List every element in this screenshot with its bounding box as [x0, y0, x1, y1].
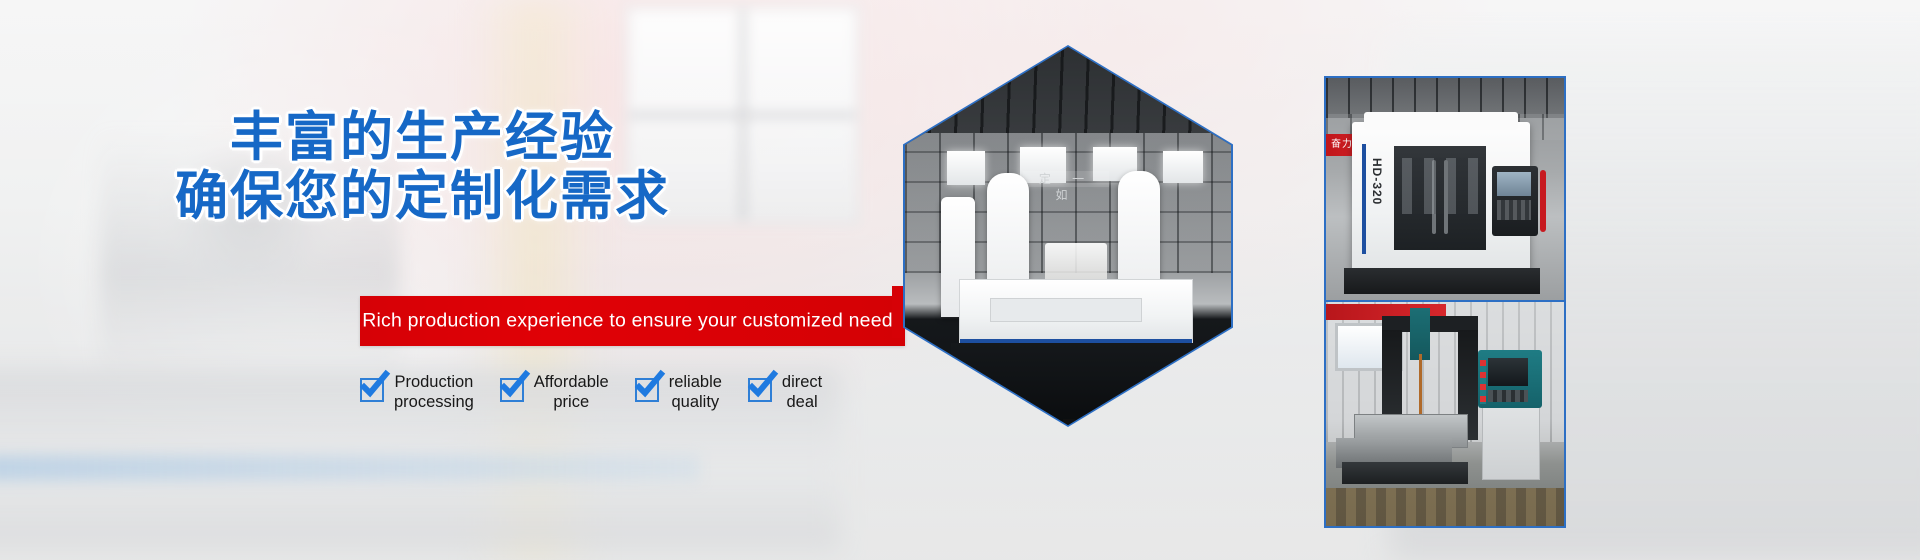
feature-label: reliable quality: [669, 372, 722, 412]
thumbnail-edm-machine[interactable]: [1324, 300, 1566, 528]
hero-image-hexagon[interactable]: 定 一 如: [903, 45, 1233, 427]
console-screen: [1488, 358, 1528, 386]
machine-hood: [1364, 112, 1518, 130]
red-guard-rail: [1540, 170, 1546, 232]
thumbnail-2-scene: [1326, 302, 1564, 526]
machining-center-body: JINCAI HD-320: [1352, 122, 1530, 272]
machine-foot: [991, 419, 1003, 425]
machine-bed: [1342, 462, 1468, 484]
machine-plinth: [1344, 268, 1540, 294]
headline-line-1: 丰富的生产经验: [0, 108, 845, 167]
subtitle-text: Rich production experience to ensure you…: [360, 310, 905, 333]
control-keypad: [1497, 200, 1531, 220]
hexagon-photo: 定 一 如: [905, 47, 1231, 425]
feature-item-reliable-quality[interactable]: reliable quality: [635, 372, 722, 412]
thumbnail-machining-center[interactable]: 奋力 JINCAI HD-320: [1324, 76, 1566, 304]
checkbox-checked-icon[interactable]: [635, 378, 659, 402]
feature-list: Production processing Affordable price r…: [360, 372, 890, 424]
workshop-roof: [905, 47, 1231, 139]
workshop-window: [1163, 151, 1203, 183]
feature-item-production-processing[interactable]: Production processing: [360, 372, 474, 412]
feature-label: direct deal: [782, 372, 822, 412]
banner-copy: 丰富的生产经验 确保您的定制化需求 Rich production experi…: [0, 0, 920, 560]
model-label: HD-320: [1368, 158, 1384, 232]
hero-banner: 丰富的生产经验 确保您的定制化需求 Rich production experi…: [0, 0, 1920, 560]
thumbnail-1-scene: 奋力 JINCAI HD-320: [1326, 78, 1564, 302]
wall-banner-text: 奋力: [1326, 139, 1353, 150]
machine-doors: [1394, 146, 1486, 250]
door-window: [1402, 158, 1478, 214]
console-buttons: [1480, 360, 1486, 404]
checkbox-checked-icon[interactable]: [360, 378, 384, 402]
machine-window-slot: [990, 298, 1142, 322]
workshop-window: [947, 151, 985, 185]
machine-base: [951, 343, 1199, 425]
workshop-scene: 定 一 如: [905, 47, 1231, 425]
machine-foot: [1135, 419, 1147, 425]
control-console: [1478, 350, 1542, 408]
console-keypad: [1488, 390, 1528, 402]
wooden-pallet-floor: [1326, 488, 1564, 528]
checkbox-checked-icon[interactable]: [500, 378, 524, 402]
workshop-wall-sign: 定 一 如: [1023, 171, 1109, 187]
control-panel: [1492, 166, 1538, 236]
feature-label: Affordable price: [534, 372, 609, 412]
subtitle-ribbon: Rich production experience to ensure you…: [360, 296, 905, 346]
page-title: 丰富的生产经验 确保您的定制化需求: [0, 108, 845, 226]
control-screen: [1497, 172, 1531, 196]
feature-item-affordable-price[interactable]: Affordable price: [500, 372, 609, 412]
headline-line-2: 确保您的定制化需求: [0, 167, 845, 226]
feature-label: Production processing: [394, 372, 474, 412]
feature-item-direct-deal[interactable]: direct deal: [748, 372, 822, 412]
checkbox-checked-icon[interactable]: [748, 378, 772, 402]
machine-body: [959, 279, 1193, 347]
blue-stripe: [1362, 144, 1366, 254]
cutting-head: [1410, 308, 1430, 360]
